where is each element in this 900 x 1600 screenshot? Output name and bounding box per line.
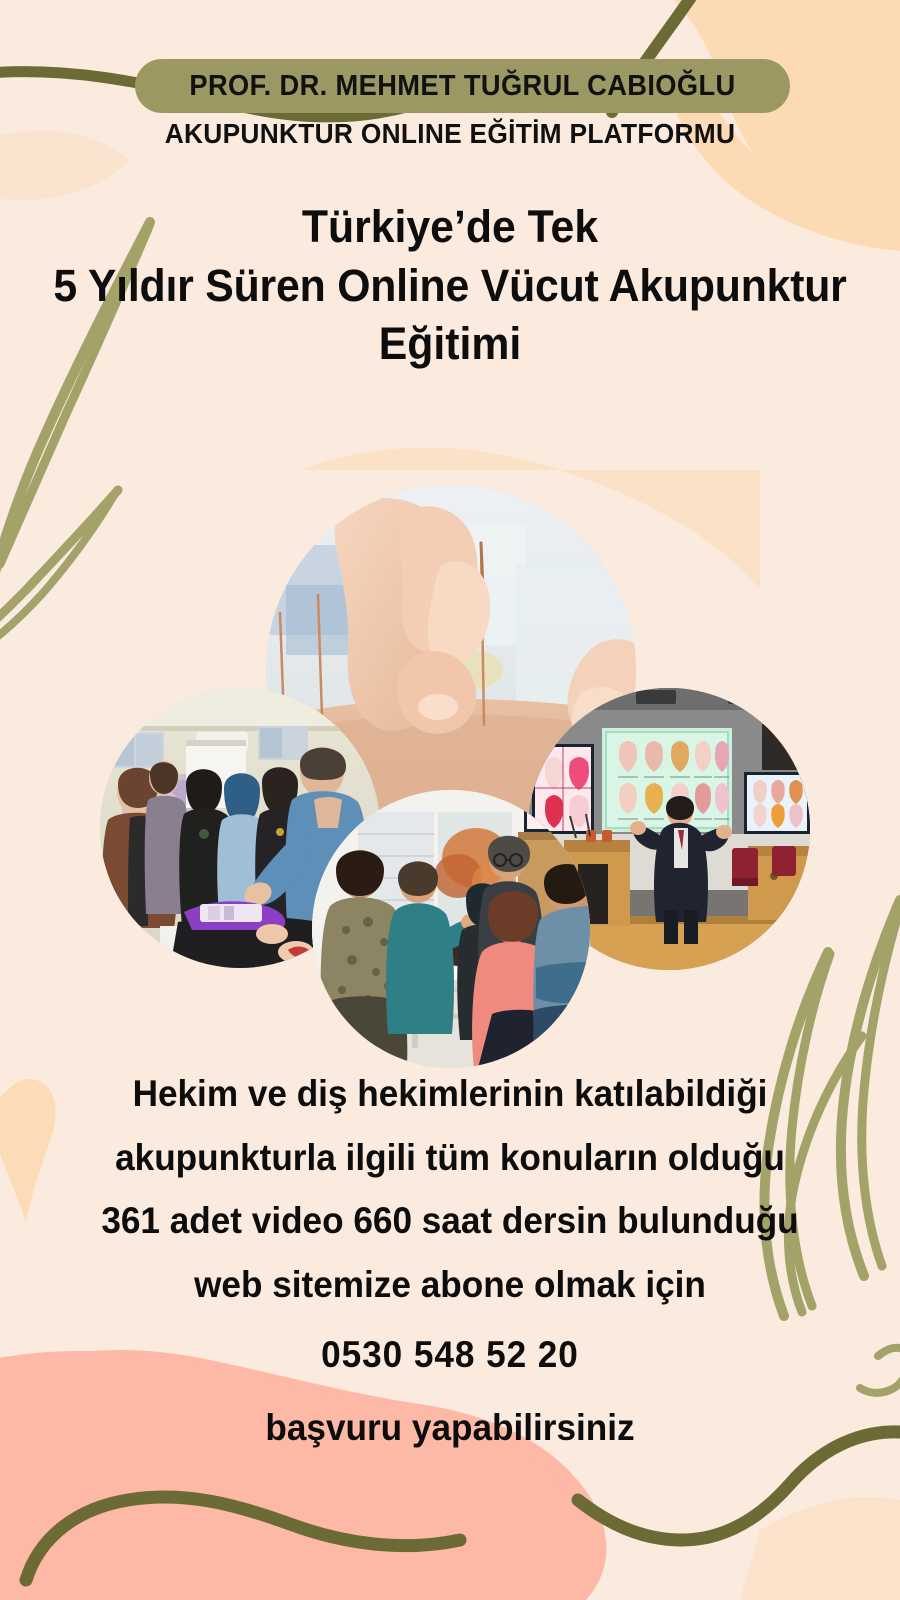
headline-line-2: 5 Yıldır Süren Online Vücut Akupunktur (23, 257, 878, 316)
peach-blob-top-right (598, 0, 900, 228)
body-copy-block: Hekim ve diş hekimlerinin katılabildiği … (0, 1062, 900, 1464)
contact-phone-number[interactable]: 0530 548 52 20 (23, 1317, 878, 1393)
platform-subtitle: AKUPUNKTUR ONLINE EĞİTİM PLATFORMU (27, 118, 873, 150)
photo-collage (0, 460, 900, 1080)
headline-line-1: Türkiye’de Tek (23, 198, 878, 257)
body-line-3-stats: 361 adet video 660 saat dersin bulunduğu (23, 1189, 878, 1253)
headline-line-3: Eğitimi (23, 315, 878, 374)
peach-wash-bottom-right (740, 1497, 900, 1600)
headline-block: Türkiye’de Tek 5 Yıldır Süren Online Vüc… (0, 198, 900, 374)
clinic-practice-photo (312, 790, 590, 1068)
body-line-5-apply: başvuru yapabilirsiniz (23, 1392, 878, 1464)
body-line-4-cta: web sitemize abone olmak için (23, 1253, 878, 1317)
body-line-1: Hekim ve diş hekimlerinin katılabildiği (23, 1062, 878, 1126)
body-line-2: akupunkturla ilgili tüm konuların olduğu (23, 1126, 878, 1190)
presenter-name: PROF. DR. MEHMET TUĞRUL CABIOĞLU (155, 60, 771, 112)
vine-bottom-left (26, 1497, 460, 1580)
poster-canvas: PROF. DR. MEHMET TUĞRUL CABIOĞLU AKUPUNK… (0, 0, 900, 1600)
